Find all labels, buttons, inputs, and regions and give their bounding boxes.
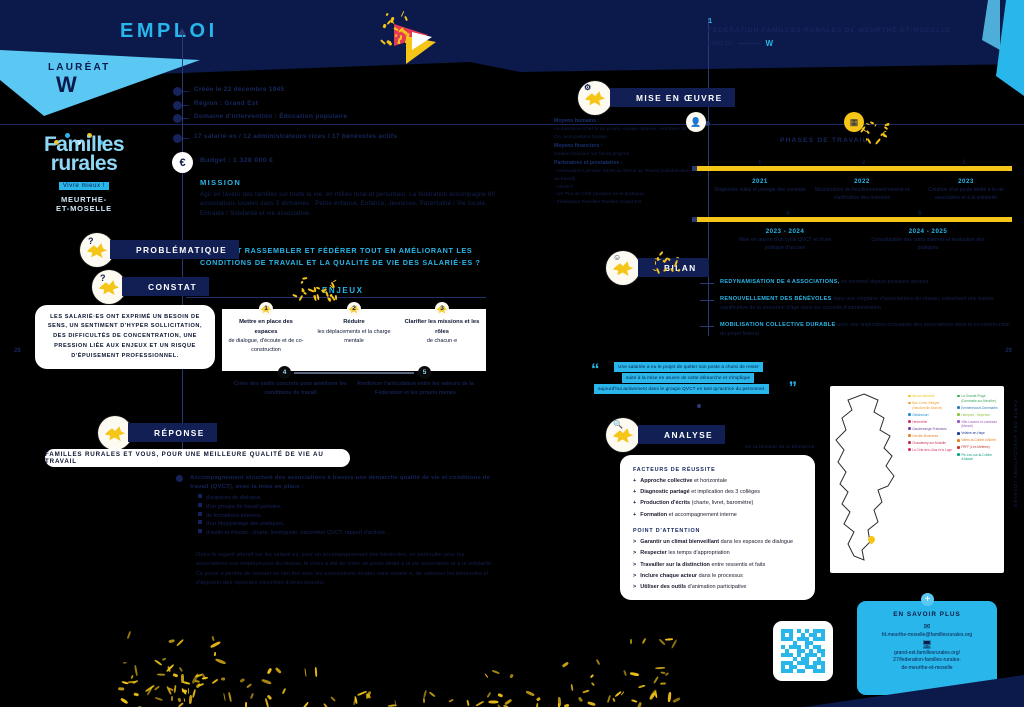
contact-url-line-2[interactable]: 27/federation-familles-rurales- — [865, 657, 989, 664]
map-legend-item: Cerville-Bonnaires — [908, 434, 953, 439]
solutions-panel: 1 Mettre en place des espaces de dialogu… — [222, 309, 486, 371]
response-sub-text: de formations internes, — [206, 513, 262, 519]
quote-line-2: suite à la mise en œuvre de cette démarc… — [622, 373, 754, 383]
bilan-badge-icon: ☺ — [606, 251, 640, 285]
solution-item: 2 Réduire les déplacements et la charge … — [310, 309, 398, 371]
response-detail-list: Accompagnement structuré des association… — [176, 474, 506, 538]
timeline-bar-row1 — [692, 166, 1012, 171]
problematique-badge-icon: ? — [80, 233, 114, 267]
attention-bold: Respecter — [640, 550, 667, 556]
quote-anchor-dot — [697, 404, 701, 408]
contact-url-line-3[interactable]: de-meurthe-et-moselle — [865, 665, 989, 672]
reponse-headline-box: FAMILLES RURALES ET VOUS, POUR UNE MEILL… — [45, 449, 350, 467]
legend-label: La Côte-des-Lilas et la Loge — [912, 448, 952, 453]
attention-rest: entre ressentis et faits — [710, 562, 765, 568]
map-legend-column-1: Art-sur-MeurtheBas-Cours Villages (Haudo… — [908, 394, 953, 464]
solution-desc: les déplacements et la charge mentale — [317, 329, 390, 344]
qr-code-icon[interactable] — [781, 629, 825, 673]
legend-label: Pie-Leu-sur-la-Colline d'Alsace — [961, 453, 1002, 462]
legend-label: Ville-Lavarre-et-Lambeau (Marcel) — [961, 420, 1002, 429]
mission-block: MISSION Agir en faveur des familles sur … — [200, 178, 500, 218]
legend-label: Chaudeney-sur-Moselle — [912, 441, 946, 446]
page-title: EMPLOI — [120, 20, 218, 43]
analyse-badge-icon: 🔍 — [606, 418, 640, 452]
means-financiers: soutien financier sur fonds propres — [554, 152, 629, 157]
solution-lower-text: Renforcer l'articulation entre les valeu… — [353, 380, 478, 397]
phases-title: PHASES DE TRAVAIL — [780, 137, 868, 144]
bullet-icon — [173, 134, 182, 143]
org-category-mark: W — [766, 39, 774, 48]
divider-line — [738, 43, 760, 44]
org-category-row: EMPLOI W — [708, 39, 773, 48]
fact-item: 17 salarié·es / 12 administrateurs·rices… — [173, 133, 503, 143]
timeline-year: 2024 - 2025 — [868, 228, 988, 235]
map-legend-item: Emménécourt-Dommartin — [957, 406, 1002, 411]
solution-number-5: 5 — [418, 366, 431, 379]
response-main-row: Accompagnement structuré des association… — [176, 474, 506, 492]
map-legend-item: Gaudrexange-Fraimbois — [908, 427, 953, 432]
timeline-item: 2022 Structuration du fonctionnement int… — [812, 178, 912, 202]
bilan-item: RENOUVELLEMENT DES BÉNÉVOLES dans une vi… — [700, 295, 1016, 313]
contact-url-line-1[interactable]: grand-est.famillesrurales.org/ — [865, 650, 989, 657]
section-label-constat: CONSTAT — [122, 277, 209, 296]
map-legend: Art-sur-MeurtheBas-Cours Villages (Haudo… — [908, 394, 1002, 464]
spark-decoration — [874, 123, 877, 126]
timeline-item: 2024 - 2025 Consolidation des outils int… — [868, 228, 988, 252]
laureat-wedge — [0, 50, 200, 116]
quote-close-icon: ” — [789, 378, 798, 398]
success-bold: Formation — [640, 512, 667, 518]
legend-color-dot — [908, 434, 911, 437]
chevron-bullet-icon: > — [633, 573, 636, 581]
solution-item: 1 Mettre en place des espaces de dialogu… — [222, 309, 310, 371]
dash-icon — [700, 283, 714, 284]
response-sub-text: d'un groupe de travail paritaire, — [206, 504, 282, 510]
map-legend-item: Art-sur-Meurthe — [908, 394, 953, 399]
attention-rest: dans les espaces de dialogue — [719, 539, 793, 545]
timeline-year: 2021 — [714, 178, 806, 185]
solution-desc: de chacun·e — [427, 338, 457, 344]
solution-number-badge: 2 — [347, 302, 361, 316]
spark-decoration — [332, 279, 336, 282]
success-item: +Approche collective et horizontale — [633, 478, 802, 486]
map-legend-item: Velaine-en-Haye — [957, 431, 1002, 436]
legend-label: Emménécourt-Dommartin — [961, 406, 998, 411]
spark-decoration — [875, 138, 881, 145]
legend-label: Hampont - Moyenne — [961, 413, 990, 418]
success-bold: Approche collective — [640, 478, 692, 484]
map-panel: Art-sur-MeurtheBas-Cours Villages (Haudo… — [830, 386, 1004, 573]
monitor-icon: 🖥 — [865, 641, 989, 649]
spark-decoration — [315, 286, 320, 290]
reponse-headline: FAMILLES RURALES ET VOUS, POUR UNE MEILL… — [45, 451, 350, 465]
spark-decoration — [303, 292, 306, 295]
section-number: 1 — [708, 16, 712, 25]
logo-department-2: ET-MOSELLE — [30, 204, 138, 213]
section-label-mise-en-oeuvre: MISE EN ŒUVRE — [610, 88, 735, 107]
attention-rest: les temps d'appropriation — [667, 550, 730, 556]
section-label-problematique: PROBLÉMATIQUE — [110, 240, 239, 259]
spark-decoration — [659, 251, 664, 256]
bilan-bold: MOBILISATION COLLECTIVE DURABLE — [720, 322, 835, 328]
fact-text: Créée le 22 décembre 1945 — [194, 86, 284, 95]
timeline-year: 2022 — [812, 178, 912, 185]
map-legend-item: La Côte-des-Lilas et la Loge — [908, 448, 953, 453]
reponse-badge-icon — [98, 416, 132, 450]
attention-item: >Inclure chaque acteur dans le processus — [633, 573, 802, 581]
timeline-start-dot — [692, 166, 697, 171]
timeline-year: 2023 - 2024 — [730, 228, 840, 235]
analyse-note: De la réussite de la démarche — [745, 444, 815, 449]
mission-title: MISSION — [200, 178, 500, 187]
response-sub-item: d'espaces de dialogue, — [198, 494, 506, 503]
logo-line-2: rurales — [30, 154, 138, 173]
timeline-bar-row2 — [692, 217, 1012, 222]
fact-item: Créée le 22 décembre 1945 — [173, 86, 503, 96]
contact-email[interactable]: fd.meurthe-moselle@famillesrurales.org — [865, 632, 989, 638]
solution-title: Clarifier les missions et les rôles — [404, 318, 480, 337]
legend-color-dot — [957, 406, 960, 409]
map-legend-item: Ville-Lavarre-et-Lambeau (Marcel) — [957, 420, 1002, 429]
legend-label: Herbéviller — [912, 420, 927, 425]
means-partenaire-item: - ANACT — [554, 185, 573, 190]
timeline-item: 2023 - 2024 Mise en œuvre d'un cycle QVC… — [730, 228, 840, 252]
spark-decoration — [301, 280, 305, 284]
attention-item: >Travailler sur la distinction entre res… — [633, 562, 802, 570]
means-partenaire-item: - Fédération Familles Rurales Grand Est — [554, 200, 642, 205]
timeline-tick-1: 1 — [758, 160, 761, 166]
attention-item: >Utiliser des outils d'animation partici… — [633, 584, 802, 592]
legend-color-dot — [908, 402, 911, 405]
legend-color-dot — [957, 420, 960, 423]
paper-plane-icon — [382, 10, 478, 72]
solution-lower-text: Créer des outils concrets pour améliorer… — [228, 380, 353, 397]
map-legend-item: Hampont - Moyenne — [957, 413, 1002, 418]
means-humains-label: Moyens humains : — [554, 118, 599, 124]
dash-icon — [700, 326, 714, 327]
key-question: COMMENT RASSEMBLER ET FÉDÉRER TOUT EN AM… — [200, 245, 500, 268]
timeline-desc: Structuration du fonctionnement interne … — [812, 187, 912, 202]
means-partenaire-item: - Un Pas de Côté (analyse de la pratique… — [554, 192, 644, 197]
org-facts-list: Créée le 22 décembre 1945 Région : Grand… — [173, 86, 503, 147]
section-label-analyse: ANALYSE — [638, 425, 725, 444]
map-side-label: CARTE DES ASSOCIATIONS LOCALES — [1013, 400, 1018, 508]
legend-color-dot — [908, 420, 911, 423]
testimonial-quote: “ Une salariée a eu le projet de quitter… — [588, 362, 795, 396]
attention-rest: d'animation participative — [686, 584, 746, 590]
timeline-desc: Consolidation des outils internes et éva… — [868, 237, 988, 252]
constat-badge-icon: ? — [92, 270, 126, 304]
logo-department-1: MEURTHE- — [30, 195, 138, 204]
chevron-bullet-icon: > — [633, 550, 636, 558]
fact-item: Domaine d'intervention : Éducation popul… — [173, 113, 503, 123]
timeline-tick-5: 5 — [918, 211, 921, 217]
timeline-desc: Création d'un poste dédié à la vie assoc… — [916, 187, 1016, 202]
response-sub-text: d'un blog/partage des pratiques, — [206, 521, 284, 527]
attention-bold: Inclure chaque acteur — [640, 573, 697, 579]
bilan-rest: en sommeil depuis plusieurs années — [840, 279, 929, 285]
timeline-desc: Mise en œuvre d'un cycle QVCT et d'une p… — [730, 237, 840, 252]
means-humains: co-directrice (chef·fe de projet), équip… — [554, 127, 686, 140]
timeline-tick-4: 4 — [786, 211, 789, 217]
fact-text: Domaine d'intervention : Éducation popul… — [194, 113, 347, 122]
success-factors-title: FACTEURS DE RÉUSSITE — [633, 467, 802, 473]
bilan-bold: REDYNAMISATION DE 4 ASSOCIATIONS, — [720, 279, 840, 285]
plus-bullet-icon: + — [633, 500, 636, 508]
plus-icon: + — [921, 593, 934, 606]
legend-label: Cerville-Bonnaires — [912, 434, 938, 439]
spark-decoration — [303, 277, 308, 280]
map-legend-column-2: La Grande-Plage (Dombasle-sur-Meurthe)Em… — [957, 394, 1002, 464]
attention-bold: Utiliser des outils — [640, 584, 686, 590]
mission-body: Agir en faveur des familles sur toute la… — [200, 190, 500, 218]
bilan-item: MOBILISATION COLLECTIVE DURABLE avec une… — [700, 321, 1016, 339]
org-category: EMPLOI — [708, 41, 732, 47]
response-sub-text: d'espaces de dialogue, — [206, 495, 262, 501]
attention-bold: Travailler sur la distinction — [640, 562, 710, 568]
legend-label: Velaine-en-Haye — [961, 431, 985, 436]
plus-bullet-icon: + — [633, 478, 636, 486]
quote-open-icon: “ — [591, 360, 600, 380]
chevron-bullet-icon: > — [633, 584, 636, 592]
rail-arrow-icon — [178, 28, 186, 35]
timeline-start-dot-2 — [692, 217, 697, 222]
chevron-bullet-icon: > — [633, 562, 636, 570]
success-item: +Production d'écrits (charte, livret, ba… — [633, 500, 802, 508]
constat-text: LES SALARIÉ·ES ONT EXPRIMÉ UN BESOIN DE … — [43, 313, 207, 362]
map-pin-icon — [868, 536, 875, 546]
legend-label: La Grande-Plage (Dombasle-sur-Meurthe) — [961, 394, 1002, 403]
solution-title: Mettre en place des espaces — [228, 318, 304, 337]
org-title: FÉDÉRATION FAMILLES RURALES DE MEURTHE-E… — [708, 27, 951, 34]
response-sub-item: d'un blog/partage des pratiques, — [198, 520, 506, 529]
analyse-panel: FACTEURS DE RÉUSSITE +Approche collectiv… — [620, 455, 815, 600]
spark-decoration — [866, 129, 870, 134]
solutions-lower-connector: 4 5 — [270, 366, 440, 378]
fact-text: 17 salarié·es / 12 administrateurs·rices… — [194, 133, 397, 142]
map-legend-item: FRFF (Les Mélères) — [957, 445, 1002, 450]
solution-number-badge: 3 — [435, 302, 449, 316]
euro-icon: € — [172, 152, 193, 173]
legend-label: Villers-la-Colline d'Albret — [961, 438, 996, 443]
logo-tagline-badge: Vivre mieux ! — [59, 182, 109, 190]
legend-color-dot — [957, 446, 960, 449]
timeline-tick-3: 3 — [962, 160, 965, 166]
legend-color-dot — [957, 413, 960, 416]
bullet-icon — [176, 475, 183, 482]
timeline-year: 2023 — [916, 178, 1016, 185]
success-item: +Formation et accompagnement interne — [633, 512, 802, 520]
legend-color-dot — [957, 453, 960, 456]
bullet-icon — [173, 87, 182, 96]
solution-title: Réduire — [316, 318, 392, 328]
response-sub-item: de formations internes, — [198, 512, 506, 521]
response-sub-item: d'outils et d'écrits : charte, livret/gu… — [198, 529, 506, 538]
map-legend-item: Herbéviller — [908, 420, 953, 425]
attention-rest: dans le processus — [697, 573, 743, 579]
attention-item: >Garantir un climat bienveillant dans le… — [633, 539, 802, 547]
success-rest: et horizontale — [693, 478, 728, 484]
legend-color-dot — [957, 395, 960, 398]
attention-points-title: POINT D'ATTENTION — [633, 528, 802, 534]
legend-color-dot — [908, 441, 911, 444]
legend-color-dot — [908, 395, 911, 398]
bilan-list: REDYNAMISATION DE 4 ASSOCIATIONS, en som… — [700, 278, 1016, 347]
response-paragraph: Outre le regard attentif sur les salarié… — [196, 551, 496, 589]
familles-rurales-logo: Familles rurales Vivre mieux ! MEURTHE- … — [30, 135, 138, 213]
map-legend-item: Chaudeney-sur-Moselle — [908, 441, 953, 446]
solution-number-4: 4 — [278, 366, 291, 379]
response-main-text: Accompagnement structuré des association… — [190, 474, 506, 492]
map-legend-item: Villers-la-Colline d'Albret — [957, 438, 1002, 443]
success-item: +Diagnostic partagé et implication des 3… — [633, 489, 802, 497]
attention-item: >Respecter les temps d'appropriation — [633, 550, 802, 558]
solution-desc: de dialogue, d'écoute et de co-construct… — [228, 338, 303, 353]
success-rest: et implication des 3 collèges — [690, 489, 760, 495]
spark-decoration — [299, 295, 303, 301]
fact-text: Région : Grand Est — [194, 100, 258, 109]
legend-label: FRFF (Les Mélères) — [961, 445, 990, 450]
timeline-desc: Diagnostic initial et partage des consta… — [714, 187, 806, 195]
map-legend-item: La Grande-Plage (Dombasle-sur-Meurthe) — [957, 394, 1002, 403]
map-legend-item: Bas-Cours Villages (Haudonville-Moncel) — [908, 401, 953, 410]
dash-icon — [700, 300, 714, 301]
constat-statement-box: LES SALARIÉ·ES ONT EXPRIMÉ UN BESOIN DE … — [35, 305, 215, 369]
legend-label: Gaudrexange-Fraimbois — [912, 427, 946, 432]
bullet-icon — [173, 101, 182, 110]
solution-number-badge: 1 — [259, 302, 273, 316]
success-bold: Production d'écrits — [640, 500, 690, 506]
timeline-tick-2: 2 — [862, 160, 865, 166]
section-label-reponse: RÉPONSE — [128, 423, 217, 442]
solution-item: 3 Clarifier les missions et les rôles de… — [398, 309, 486, 371]
legend-label: Bas-Cours Villages (Haudonville-Moncel) — [912, 401, 953, 410]
plus-bullet-icon: + — [633, 512, 636, 520]
person-icon: 👤 — [686, 112, 706, 132]
fact-item: Région : Grand Est — [173, 100, 503, 110]
page-number-right: 29 — [1005, 348, 1012, 354]
connector-line — [294, 372, 414, 374]
legend-color-dot — [908, 413, 911, 416]
success-rest: (charte, livret, baromètre) — [690, 500, 753, 506]
quote-line-3: aujourd'hui activement dans le groupe QV… — [594, 384, 769, 394]
response-sub-item: d'un groupe de travail paritaire, — [198, 503, 506, 512]
infographic-poster: EMPLOI LAURÉAT W Familles rurales Vivre … — [0, 0, 1024, 707]
legend-label: Art-sur-Meurthe — [912, 394, 934, 399]
solutions-lower-texts: Créer des outils concrets pour améliorer… — [228, 380, 478, 397]
legend-color-dot — [957, 432, 960, 435]
map-legend-item: Pie-Leu-sur-la-Colline d'Alsace — [957, 453, 1002, 462]
mise-en-oeuvre-badge-icon: ⚙ — [578, 81, 612, 115]
section-label-bilan: BILAN — [638, 258, 709, 277]
bilan-bold: RENOUVELLEMENT DES BÉNÉVOLES — [720, 296, 832, 302]
legend-color-dot — [908, 427, 911, 430]
chevron-bullet-icon: > — [633, 539, 636, 547]
qr-code-card[interactable] — [773, 621, 833, 681]
map-legend-item: Gelaincourt — [908, 413, 953, 418]
success-bold: Diagnostic partagé — [640, 489, 690, 495]
response-sub-text: d'outils et d'écrits : charte, livret/gu… — [206, 530, 390, 536]
quote-line-1: Une salariée a eu le projet de quitter s… — [614, 362, 763, 372]
timeline-item: 2021 Diagnostic initial et partage des c… — [714, 178, 806, 195]
means-financiers-label: Moyens financiers : — [554, 143, 602, 149]
legend-color-dot — [908, 448, 911, 451]
budget-label: Budget : 1 328 000 € — [200, 157, 273, 164]
contact-panel: EN SAVOIR PLUS ✉ fd.meurthe-moselle@fami… — [857, 601, 997, 695]
header-divider — [0, 124, 1024, 125]
bullet-icon — [173, 114, 182, 123]
plus-bullet-icon: + — [633, 489, 636, 497]
laureat-logo-mark: W — [56, 74, 77, 96]
timeline-item: 2023 Création d'un poste dédié à la vie … — [916, 178, 1016, 202]
legend-label: Gelaincourt — [912, 413, 928, 418]
attention-bold: Garantir un climat bienveillant — [640, 539, 719, 545]
bilan-item: REDYNAMISATION DE 4 ASSOCIATIONS, en som… — [700, 278, 1016, 287]
page-number-left: 28 — [14, 348, 21, 354]
means-partenaire-item: - Association Lorraine Santé au Mieux au… — [554, 169, 690, 182]
means-block: Moyens humains : co-directrice (chef·fe … — [554, 117, 694, 207]
success-rest: et accompagnement interne — [667, 512, 737, 518]
contact-title: EN SAVOIR PLUS — [865, 611, 989, 618]
legend-color-dot — [957, 439, 960, 442]
mail-icon: ✉ — [865, 623, 989, 631]
means-partenaires-label: Partenaires et prestataires : — [554, 160, 622, 166]
